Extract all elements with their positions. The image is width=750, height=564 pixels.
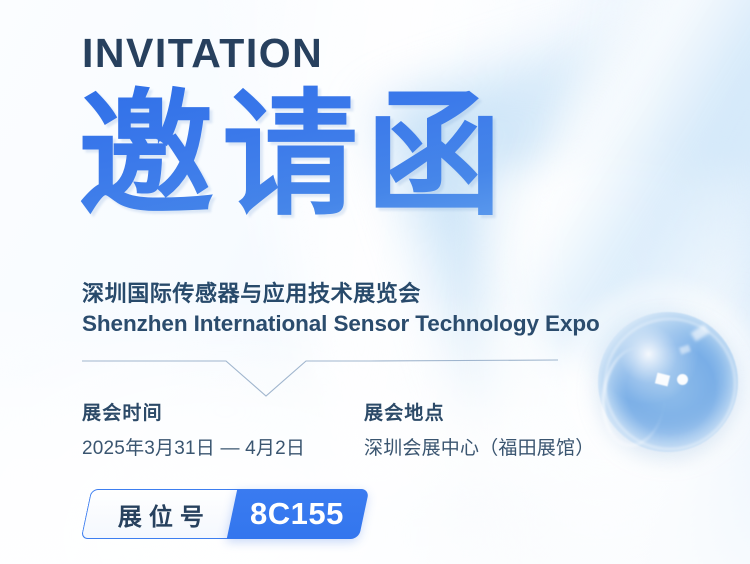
page-title: 邀请函 [78,76,510,236]
expo-name-cn: 深圳国际传感器与应用技术展览会 [82,276,421,308]
date-label: 展会时间 [82,404,305,423]
invitation-poster: INVITATION 邀请函 邀请函 深圳国际传感器与应用技术展览会 Shenz… [0,0,750,564]
event-info-date: 展会时间 2025年3月31日 — 4月2日 [82,404,305,458]
notched-divider [70,350,570,402]
event-info-venue: 展会地点 深圳会展中心（福田展馆） [364,404,594,458]
poster-content: INVITATION 邀请函 邀请函 深圳国际传感器与应用技术展览会 Shenz… [0,0,750,564]
kicker-invitation: INVITATION [82,33,323,74]
booth-number-panel: 8C155 [227,489,369,539]
date-value: 2025年3月31日 — 4月2日 [82,439,305,458]
booth-label: 展位号 [113,497,211,532]
booth-number: 8C155 [250,496,344,532]
expo-name-en: Shenzhen International Sensor Technology… [82,311,600,337]
booth-number-badge: 展位号 8C155 [86,489,364,539]
venue-value: 深圳会展中心（福田展馆） [364,439,594,458]
booth-label-panel: 展位号 [81,489,239,539]
venue-label: 展会地点 [364,404,594,423]
divider-line-icon [70,350,570,402]
